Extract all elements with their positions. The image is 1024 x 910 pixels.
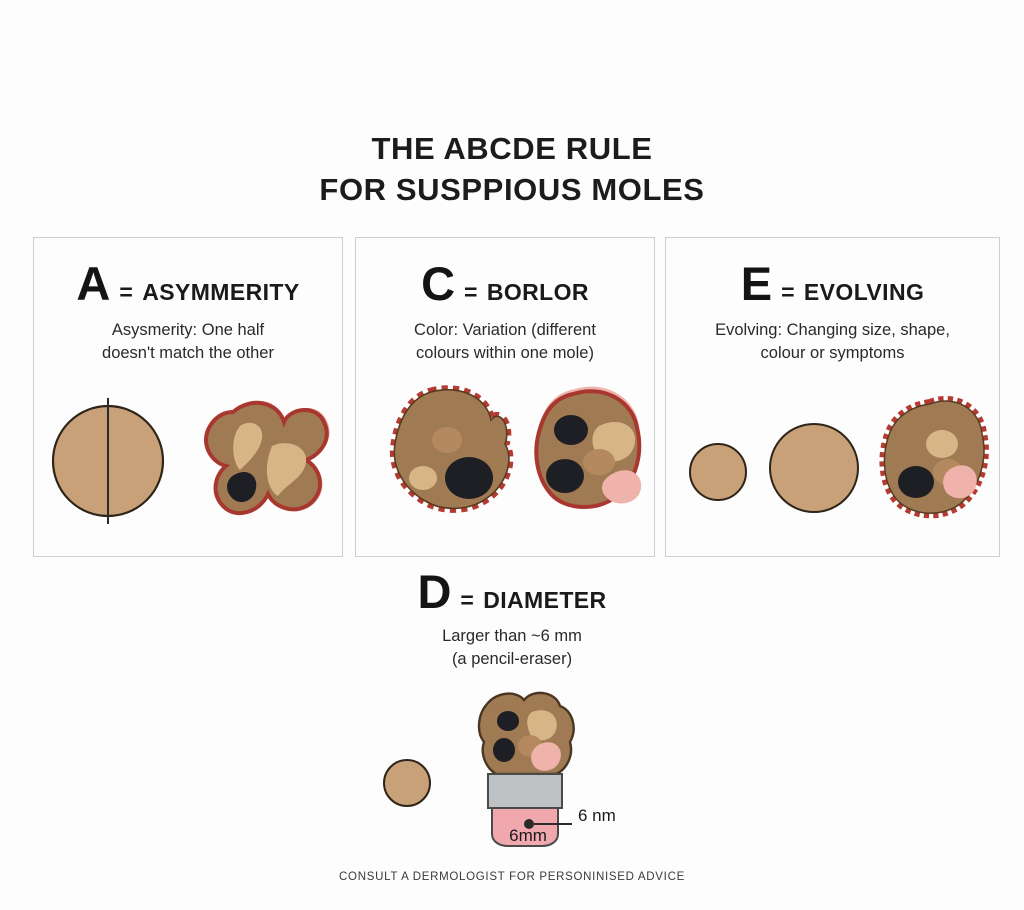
diameter-width-label: 6mm <box>488 826 568 846</box>
panel-e-term: EVOLVING <box>804 279 924 306</box>
panel-a-equals: = <box>119 279 133 306</box>
panel-c-figures <box>356 378 654 538</box>
panel-a-heading: A = ASYMMERITY <box>34 262 342 306</box>
color-variation-illustration <box>361 378 649 538</box>
panel-e-heading: E = EVOLVING <box>666 262 999 306</box>
pencil-mole-patch-dark-1 <box>497 711 519 731</box>
evolving-stage-1-small-mole <box>690 444 746 500</box>
jagged-mole-patch-dark <box>445 457 493 499</box>
panel-e-desc-line-2: colour or symptoms <box>680 342 985 365</box>
evolving-stage-2-medium-mole <box>770 424 858 512</box>
asymmetric-mole-blob <box>205 401 330 515</box>
title-line-2: FOR SUSPPIOUS MOLES <box>0 169 1024 210</box>
pencil-eraser-figure: 6 nm 6mm <box>0 688 1024 848</box>
evolving-illustration <box>672 384 994 534</box>
panel-asymmetry: A = ASYMMERITY Asysmerity: One half does… <box>33 237 343 557</box>
jagged-mole-patch-mid <box>432 427 462 453</box>
diameter-desc-line-2: (a pencil-eraser) <box>14 648 1010 671</box>
panel-evolving: E = EVOLVING Evolving: Changing size, sh… <box>665 237 1000 557</box>
panel-a-desc-line-2: doesn't match the other <box>48 342 328 365</box>
panel-e-figures <box>666 384 999 534</box>
panel-a-term: ASYMMERITY <box>142 279 299 306</box>
panel-c-description: Color: Variation (different colours with… <box>356 319 654 365</box>
diameter-illustration <box>0 688 1024 848</box>
panel-c-equals: = <box>464 279 478 306</box>
diameter-callout-label: 6 nm <box>578 806 616 826</box>
panel-e-letter: E <box>741 262 772 306</box>
panel-a-desc-line-1: Asysmerity: One half <box>48 319 328 342</box>
diameter-description: Larger than ~6 mm (a pencil-eraser) <box>0 625 1024 671</box>
irregular-patch-light <box>926 430 958 458</box>
panel-a-description: Asysmerity: One half doesn't match the o… <box>34 319 342 365</box>
panel-c-term: BORLOR <box>487 279 589 306</box>
page-title: THE ABCDE RULE FOR SUSPPIOUS MOLES <box>0 128 1024 210</box>
pencil-mole-patch-dark-2 <box>493 738 515 762</box>
panel-c-desc-line-2: colours within one mole) <box>370 342 640 365</box>
panel-c-heading: C = BORLOR <box>356 262 654 306</box>
jagged-border-mole <box>394 390 509 509</box>
diameter-equals: = <box>460 587 474 614</box>
diameter-term: DIAMETER <box>483 587 606 614</box>
panel-e-equals: = <box>781 279 795 306</box>
diameter-desc-line-1: Larger than ~6 mm <box>14 625 1010 648</box>
multicolour-patch-mid <box>583 449 615 475</box>
evolving-stage-3-irregular-mole <box>884 401 984 513</box>
diameter-reference-mole <box>384 760 430 806</box>
pencil-ferrule <box>488 774 562 808</box>
asymmetry-illustration <box>40 378 336 538</box>
panel-e-description: Evolving: Changing size, shape, colour o… <box>666 319 999 365</box>
panel-c-desc-line-1: Color: Variation (different <box>370 319 640 342</box>
title-line-1: THE ABCDE RULE <box>0 128 1024 169</box>
panel-color: C = BORLOR Color: Variation (different c… <box>355 237 655 557</box>
footer-disclaimer: CONSULT A DERMOLOGIST FOR PERSONINISED A… <box>0 871 1024 883</box>
multicolour-patch-dark-2 <box>546 459 584 493</box>
section-diameter: D = DIAMETER Larger than ~6 mm (a pencil… <box>0 570 1024 671</box>
irregular-patch-dark <box>898 466 934 498</box>
pencil-mole-head <box>479 693 574 774</box>
diameter-letter: D <box>417 570 451 614</box>
panel-a-figures <box>34 378 342 538</box>
panel-e-desc-line-1: Evolving: Changing size, shape, <box>680 319 985 342</box>
panel-c-letter: C <box>421 262 455 306</box>
diameter-heading: D = DIAMETER <box>0 570 1024 614</box>
multicolour-mole <box>535 387 641 507</box>
jagged-mole-patch-light <box>409 466 437 490</box>
panel-a-letter: A <box>76 262 110 306</box>
multicolour-patch-dark-1 <box>554 415 588 445</box>
blob-body <box>206 403 327 513</box>
